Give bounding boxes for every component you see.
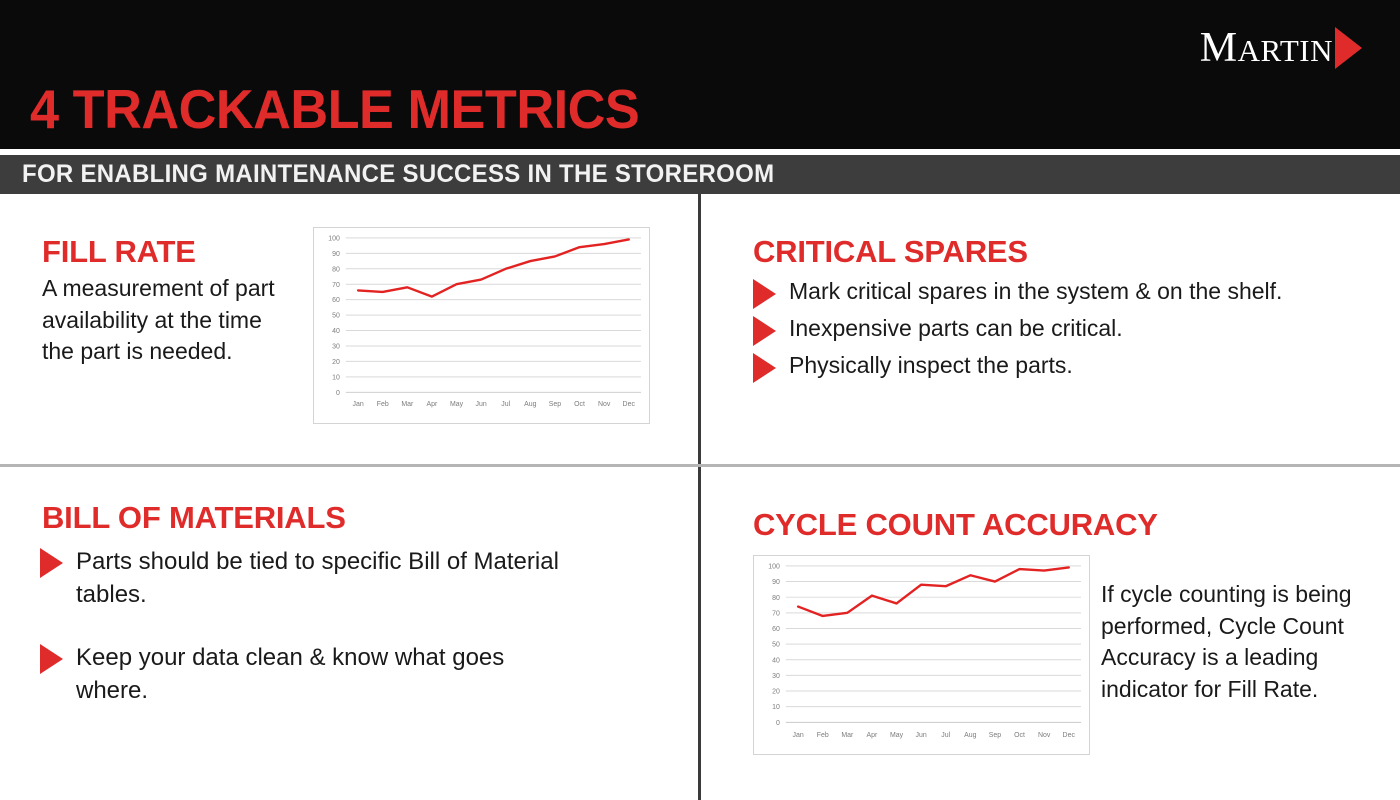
- svg-text:Nov: Nov: [598, 401, 611, 408]
- fill-rate-x-ticks: JanFebMarAprMayJunJulAugSepOctNovDec: [353, 401, 636, 408]
- bullet-text: Inexpensive parts can be critical.: [789, 313, 1123, 345]
- list-item: Inexpensive parts can be critical.: [753, 313, 1313, 346]
- section-bill-of-materials: BILL OF MATERIALS Parts should be tied t…: [0, 467, 698, 800]
- fill-rate-y-ticks: 0102030405060708090100: [328, 235, 340, 396]
- cycle-count-note: If cycle counting is being performed, Cy…: [1101, 579, 1381, 706]
- page-title: 4 TRACKABLE METRICS: [30, 82, 639, 137]
- cycle-count-chart-svg: 0102030405060708090100 JanFebMarAprMayJu…: [754, 556, 1089, 754]
- fill-rate-description: A measurement of part availability at th…: [42, 273, 297, 368]
- svg-text:Mar: Mar: [841, 732, 854, 739]
- svg-text:40: 40: [332, 328, 340, 335]
- svg-text:0: 0: [776, 720, 780, 727]
- svg-text:Mar: Mar: [401, 401, 414, 408]
- arrow-bullet-icon: [753, 316, 776, 346]
- fill-rate-series-line: [358, 239, 629, 296]
- svg-text:40: 40: [772, 657, 780, 664]
- svg-text:90: 90: [772, 579, 780, 586]
- svg-text:Sep: Sep: [549, 401, 562, 408]
- svg-text:Jun: Jun: [476, 401, 487, 408]
- svg-text:Oct: Oct: [1014, 732, 1025, 739]
- svg-text:90: 90: [332, 251, 340, 258]
- svg-text:50: 50: [772, 642, 780, 649]
- cycle-count-gridlines: [786, 566, 1081, 722]
- arrow-bullet-icon: [40, 548, 63, 578]
- bullet-text: Parts should be tied to specific Bill of…: [76, 545, 560, 611]
- svg-text:Jun: Jun: [916, 732, 927, 739]
- arrow-bullet-icon: [753, 353, 776, 383]
- logo-wordmark: MARTIN: [1200, 27, 1333, 69]
- cycle-count-chart: 0102030405060708090100 JanFebMarAprMayJu…: [753, 555, 1090, 755]
- list-item: Physically inspect the parts.: [753, 350, 1313, 383]
- svg-text:Dec: Dec: [623, 401, 636, 408]
- svg-text:Feb: Feb: [377, 401, 389, 408]
- svg-text:10: 10: [772, 704, 780, 711]
- bullet-text: Physically inspect the parts.: [789, 350, 1073, 382]
- martin-logo: MARTIN: [1200, 24, 1362, 72]
- svg-text:Sep: Sep: [989, 732, 1002, 739]
- svg-text:20: 20: [332, 359, 340, 366]
- svg-text:Jan: Jan: [353, 401, 364, 408]
- svg-text:Dec: Dec: [1063, 732, 1076, 739]
- svg-text:Oct: Oct: [574, 401, 585, 408]
- fill-rate-chart-svg: 0102030405060708090100 JanFebMarAprMayJu…: [314, 228, 649, 423]
- list-item: Keep your data clean & know what goes wh…: [40, 641, 560, 707]
- bullet-text: Keep your data clean & know what goes wh…: [76, 641, 560, 707]
- svg-text:60: 60: [332, 297, 340, 304]
- svg-text:Aug: Aug: [524, 401, 537, 408]
- arrow-bullet-icon: [753, 279, 776, 309]
- section-title-fill-rate: FILL RATE: [42, 236, 196, 267]
- svg-text:60: 60: [772, 626, 780, 633]
- svg-text:May: May: [890, 732, 904, 739]
- bullet-text: Mark critical spares in the system & on …: [789, 276, 1282, 308]
- section-fill-rate: FILL RATE A measurement of part availabi…: [0, 194, 698, 464]
- cycle-count-x-ticks: JanFebMarAprMayJunJulAugSepOctNovDec: [793, 732, 1076, 739]
- list-item: Mark critical spares in the system & on …: [753, 276, 1313, 309]
- svg-text:Aug: Aug: [964, 732, 977, 739]
- svg-text:50: 50: [332, 313, 340, 320]
- svg-text:20: 20: [772, 689, 780, 696]
- fill-rate-chart: 0102030405060708090100 JanFebMarAprMayJu…: [313, 227, 650, 424]
- section-critical-spares: CRITICAL SPARES Mark critical spares in …: [701, 194, 1400, 464]
- svg-text:Nov: Nov: [1038, 732, 1051, 739]
- logo-remainder: ARTIN: [1238, 33, 1333, 68]
- svg-text:May: May: [450, 401, 464, 408]
- svg-text:Apr: Apr: [427, 401, 439, 408]
- page-subtitle: FOR ENABLING MAINTENANCE SUCCESS IN THE …: [22, 162, 774, 187]
- svg-text:30: 30: [332, 344, 340, 351]
- arrow-bullet-icon: [40, 644, 63, 674]
- svg-text:10: 10: [332, 374, 340, 381]
- cycle-count-y-ticks: 0102030405060708090100: [768, 563, 780, 726]
- svg-text:0: 0: [336, 390, 340, 397]
- fill-rate-gridlines: [346, 238, 641, 392]
- svg-text:80: 80: [332, 266, 340, 273]
- svg-text:70: 70: [332, 282, 340, 289]
- section-title-critical-spares: CRITICAL SPARES: [753, 236, 1028, 267]
- svg-text:70: 70: [772, 610, 780, 617]
- svg-text:Feb: Feb: [817, 732, 829, 739]
- section-title-cycle-count-accuracy: CYCLE COUNT ACCURACY: [753, 509, 1158, 540]
- svg-text:100: 100: [768, 563, 780, 570]
- list-item: Parts should be tied to specific Bill of…: [40, 545, 560, 611]
- svg-text:30: 30: [772, 673, 780, 680]
- critical-spares-bullet-list: Mark critical spares in the system & on …: [753, 276, 1313, 387]
- section-cycle-count-accuracy: CYCLE COUNT ACCURACY 0102030405060708090…: [701, 467, 1400, 800]
- svg-text:100: 100: [328, 235, 340, 242]
- bill-of-materials-bullet-list: Parts should be tied to specific Bill of…: [40, 545, 560, 737]
- section-title-bill-of-materials: BILL OF MATERIALS: [42, 502, 346, 533]
- logo-initial: M: [1200, 25, 1238, 71]
- cycle-count-series-line: [798, 567, 1069, 615]
- svg-text:Jan: Jan: [793, 732, 804, 739]
- svg-text:80: 80: [772, 595, 780, 602]
- right-triangle-icon: [1335, 27, 1362, 69]
- svg-text:Apr: Apr: [867, 732, 879, 739]
- svg-text:Jul: Jul: [941, 732, 950, 739]
- svg-text:Jul: Jul: [501, 401, 510, 408]
